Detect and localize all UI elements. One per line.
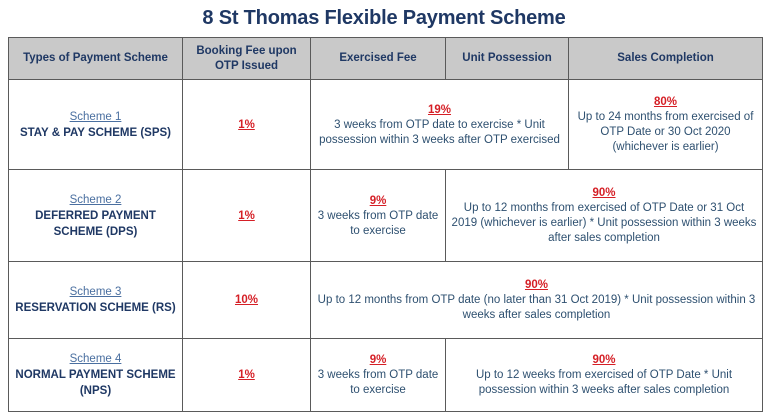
sales-completion-cell: 90% Up to 12 months from OTP date (no la… (311, 262, 763, 339)
exercised-fee-percent: 19% (315, 102, 564, 118)
booking-fee-cell: 1% (183, 80, 311, 170)
column-header-exercised-fee: Exercised Fee (311, 38, 446, 80)
booking-fee-cell: 1% (183, 339, 311, 412)
sales-completion-cell: 80% Up to 24 months from exercised of OT… (569, 80, 763, 170)
exercised-fee-detail: 3 weeks from OTP date to exercise (315, 368, 441, 398)
sales-completion-percent: 90% (450, 352, 758, 368)
sales-completion-detail: Up to 12 months from exercised of OTP Da… (450, 201, 758, 246)
table-header: Types of Payment Scheme Booking Fee upon… (9, 38, 763, 80)
scheme-title-label: RESERVATION SCHEME (RS) (13, 300, 178, 316)
table-row: Scheme 2 DEFERRED PAYMENT SCHEME (DPS) 1… (9, 170, 763, 262)
table-body: Scheme 1 STAY & PAY SCHEME (SPS) 1% 19% … (9, 80, 763, 412)
payment-scheme-table-wrapper: Types of Payment Scheme Booking Fee upon… (8, 37, 762, 412)
column-header-booking-fee-upon-otp-issued: Booking Fee upon OTP Issued (183, 38, 311, 80)
scheme-title-label: STAY & PAY SCHEME (SPS) (13, 125, 178, 141)
booking-fee-percent: 1% (187, 117, 306, 133)
scheme-number-label: Scheme 3 (13, 284, 178, 300)
scheme-name-cell: Scheme 1 STAY & PAY SCHEME (SPS) (9, 80, 183, 170)
booking-fee-cell: 10% (183, 262, 311, 339)
document-page: 8 St Thomas Flexible Payment Scheme Type… (0, 0, 768, 412)
sales-completion-detail: Up to 24 months from exercised of OTP Da… (573, 110, 758, 155)
column-header-unit-possession: Unit Possession (446, 38, 569, 80)
booking-fee-percent: 1% (187, 367, 306, 383)
booking-fee-percent: 1% (187, 208, 306, 224)
table-row: Scheme 3 RESERVATION SCHEME (RS) 10% 90%… (9, 262, 763, 339)
sales-completion-detail: Up to 12 months from OTP date (no later … (315, 293, 758, 323)
sales-completion-cell: 90% Up to 12 months from exercised of OT… (446, 170, 763, 262)
column-header-sales-completion: Sales Completion (569, 38, 763, 80)
scheme-name-cell: Scheme 3 RESERVATION SCHEME (RS) (9, 262, 183, 339)
page-title: 8 St Thomas Flexible Payment Scheme (0, 0, 768, 33)
sales-completion-detail: Up to 12 weeks from exercised of OTP Dat… (450, 368, 758, 398)
payment-scheme-table: Types of Payment Scheme Booking Fee upon… (8, 37, 763, 412)
scheme-title-label: DEFERRED PAYMENT SCHEME (DPS) (13, 208, 178, 240)
scheme-name-cell: Scheme 4 NORMAL PAYMENT SCHEME (NPS) (9, 339, 183, 412)
exercised-fee-percent: 9% (315, 352, 441, 368)
table-header-row: Types of Payment Scheme Booking Fee upon… (9, 38, 763, 80)
exercised-fee-detail: 3 weeks from OTP date to exercise * Unit… (315, 118, 564, 148)
table-row: Scheme 1 STAY & PAY SCHEME (SPS) 1% 19% … (9, 80, 763, 170)
scheme-number-label: Scheme 4 (13, 351, 178, 367)
exercised-fee-cell: 9% 3 weeks from OTP date to exercise (311, 170, 446, 262)
scheme-name-cell: Scheme 2 DEFERRED PAYMENT SCHEME (DPS) (9, 170, 183, 262)
booking-fee-percent: 10% (187, 292, 306, 308)
scheme-number-label: Scheme 1 (13, 109, 178, 125)
exercised-fee-percent: 9% (315, 193, 441, 209)
column-header-types-of-payment-scheme: Types of Payment Scheme (9, 38, 183, 80)
sales-completion-percent: 90% (450, 185, 758, 201)
sales-completion-percent: 90% (315, 277, 758, 293)
sales-completion-cell: 90% Up to 12 weeks from exercised of OTP… (446, 339, 763, 412)
booking-fee-cell: 1% (183, 170, 311, 262)
exercised-fee-cell: 9% 3 weeks from OTP date to exercise (311, 339, 446, 412)
scheme-number-label: Scheme 2 (13, 192, 178, 208)
exercised-fee-cell: 19% 3 weeks from OTP date to exercise * … (311, 80, 569, 170)
scheme-title-label: NORMAL PAYMENT SCHEME (NPS) (13, 367, 178, 399)
exercised-fee-detail: 3 weeks from OTP date to exercise (315, 209, 441, 239)
sales-completion-percent: 80% (573, 94, 758, 110)
table-row: Scheme 4 NORMAL PAYMENT SCHEME (NPS) 1% … (9, 339, 763, 412)
